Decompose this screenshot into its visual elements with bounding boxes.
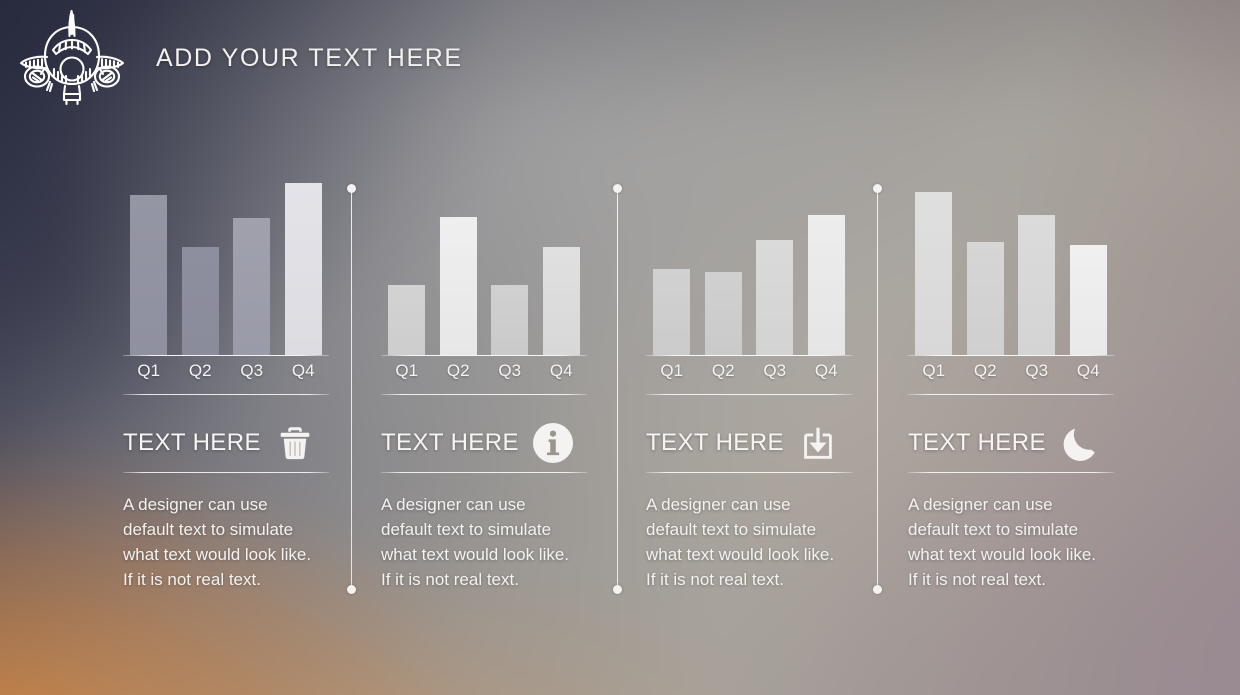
chart-axis-line <box>381 355 587 356</box>
bar-slot <box>749 170 801 355</box>
bar-chart-4 <box>908 170 1114 355</box>
divider-top <box>123 394 329 395</box>
bar-slot <box>123 170 175 355</box>
info-column-4: Q1 Q2 Q3 Q4 TEXT HERE A designer can use… <box>908 170 1114 592</box>
section-body-4: A designer can use default text to simul… <box>908 492 1103 592</box>
section-heading-1: TEXT HERE <box>123 414 329 472</box>
bar-slot <box>801 170 853 355</box>
bar-q1 <box>388 285 425 355</box>
divider-bottom <box>381 472 587 473</box>
trash-icon[interactable] <box>272 420 318 466</box>
bar-q4 <box>1070 245 1107 355</box>
info-icon[interactable] <box>530 420 576 466</box>
bar-slot <box>1011 170 1063 355</box>
bar-chart-1 <box>123 170 329 355</box>
divider-bottom <box>123 472 329 473</box>
chart-axis-line <box>646 355 852 356</box>
separator-1 <box>347 184 356 594</box>
chart-tick-labels: Q1 Q2 Q3 Q4 <box>123 361 329 381</box>
divider-top <box>381 394 587 395</box>
download-icon[interactable] <box>795 420 841 466</box>
tick-label: Q2 <box>698 361 750 381</box>
divider-top <box>908 394 1114 395</box>
separator-dot-bottom <box>873 585 882 594</box>
section-title: TEXT HERE <box>908 429 1046 457</box>
bar-slot <box>433 170 485 355</box>
bar-chart-2 <box>381 170 587 355</box>
bar-q3 <box>491 285 528 355</box>
tick-label: Q2 <box>960 361 1012 381</box>
bar-slot <box>1063 170 1115 355</box>
slide-header: ADD YOUR TEXT HERE <box>0 0 1240 118</box>
bar-slot <box>484 170 536 355</box>
airplane-front-sketch-icon <box>14 6 130 108</box>
tick-label: Q4 <box>536 361 588 381</box>
bar-q4 <box>285 183 322 355</box>
section-title: TEXT HERE <box>646 429 784 457</box>
bar-q1 <box>130 195 167 355</box>
chart-tick-labels: Q1 Q2 Q3 Q4 <box>381 361 587 381</box>
chart-axis-line <box>908 355 1114 356</box>
separator-line <box>617 188 618 590</box>
separator-dot-top <box>613 184 622 193</box>
section-heading-3: TEXT HERE <box>646 414 852 472</box>
info-column-3: Q1 Q2 Q3 Q4 TEXT HERE <box>646 170 852 592</box>
bar-slot <box>175 170 227 355</box>
tick-label: Q4 <box>801 361 853 381</box>
section-body-2: A designer can use default text to simul… <box>381 492 576 592</box>
separator-line <box>351 188 352 590</box>
divider-bottom <box>908 472 1114 473</box>
tick-label: Q3 <box>1011 361 1063 381</box>
bar-q2 <box>705 272 742 355</box>
separator-2 <box>613 184 622 594</box>
moon-icon[interactable] <box>1057 420 1103 466</box>
separator-3 <box>873 184 882 594</box>
info-column-2: Q1 Q2 Q3 Q4 TEXT HERE A designer can use… <box>381 170 587 592</box>
bar-slot <box>226 170 278 355</box>
divider-bottom <box>646 472 852 473</box>
tick-label: Q4 <box>278 361 330 381</box>
bar-slot <box>381 170 433 355</box>
tick-label: Q2 <box>175 361 227 381</box>
bar-q1 <box>915 192 952 355</box>
bar-q3 <box>756 240 793 355</box>
bar-slot <box>646 170 698 355</box>
info-column-1: Q1 Q2 Q3 Q4 TEXT HERE <box>123 170 329 592</box>
separator-line <box>877 188 878 590</box>
page-title: ADD YOUR TEXT HERE <box>156 44 463 73</box>
tick-label: Q3 <box>484 361 536 381</box>
separator-dot-bottom <box>613 585 622 594</box>
tick-label: Q1 <box>381 361 433 381</box>
tick-label: Q1 <box>908 361 960 381</box>
tick-label: Q1 <box>646 361 698 381</box>
bar-slot <box>536 170 588 355</box>
bar-q2 <box>967 242 1004 355</box>
separator-dot-top <box>873 184 882 193</box>
chart-axis-line <box>123 355 329 356</box>
section-title: TEXT HERE <box>123 429 261 457</box>
chart-tick-labels: Q1 Q2 Q3 Q4 <box>908 361 1114 381</box>
bar-slot <box>960 170 1012 355</box>
tick-label: Q1 <box>123 361 175 381</box>
separator-dot-top <box>347 184 356 193</box>
bar-chart-3 <box>646 170 852 355</box>
section-heading-2: TEXT HERE <box>381 414 587 472</box>
section-title: TEXT HERE <box>381 429 519 457</box>
tick-label: Q3 <box>749 361 801 381</box>
separator-dot-bottom <box>347 585 356 594</box>
divider-top <box>646 394 852 395</box>
bar-q3 <box>1018 215 1055 355</box>
tick-label: Q2 <box>433 361 485 381</box>
bar-slot <box>278 170 330 355</box>
bar-q2 <box>440 217 477 355</box>
section-body-1: A designer can use default text to simul… <box>123 492 318 592</box>
tick-label: Q3 <box>226 361 278 381</box>
chart-tick-labels: Q1 Q2 Q3 Q4 <box>646 361 852 381</box>
section-body-3: A designer can use default text to simul… <box>646 492 841 592</box>
bar-q3 <box>233 218 270 355</box>
bar-q1 <box>653 269 690 355</box>
bar-q2 <box>182 247 219 355</box>
bar-q4 <box>543 247 580 355</box>
tick-label: Q4 <box>1063 361 1115 381</box>
bar-q4 <box>808 215 845 355</box>
section-heading-4: TEXT HERE <box>908 414 1114 472</box>
bar-slot <box>908 170 960 355</box>
bar-slot <box>698 170 750 355</box>
